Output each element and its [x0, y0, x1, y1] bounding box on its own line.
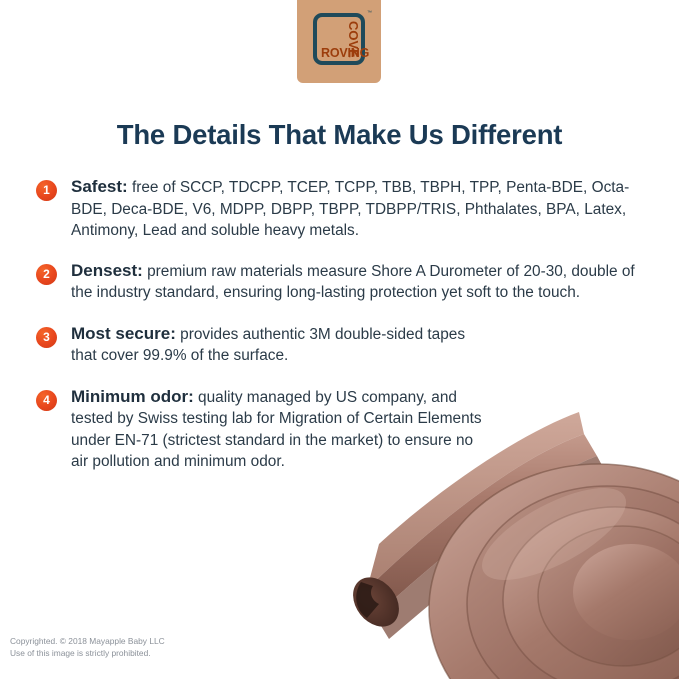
- list-item: 1 Safest: free of SCCP, TDCPP, TCEP, TCP…: [36, 176, 636, 242]
- trademark-symbol: ™: [367, 10, 372, 16]
- logo-tile: COVE ROVING ™: [297, 0, 381, 83]
- list-item-text: Safest: free of SCCP, TDCPP, TCEP, TCPP,…: [71, 176, 637, 242]
- list-item-text: Densest: premium raw materials measure S…: [71, 260, 651, 304]
- list-item: 3 Most secure: provides authentic 3M dou…: [36, 323, 636, 367]
- list-item-label: Minimum odor:: [71, 387, 194, 406]
- list-item-label: Most secure:: [71, 324, 176, 343]
- page-title: The Details That Make Us Different: [0, 119, 679, 151]
- list-number-badge: 4: [36, 390, 57, 411]
- list-item: 4 Minimum odor: quality managed by US co…: [36, 386, 636, 473]
- logo-text-roving: ROVING: [321, 47, 369, 60]
- feature-list: 1 Safest: free of SCCP, TDCPP, TCEP, TCP…: [36, 176, 636, 473]
- logo-outline-square: COVE ROVING: [313, 13, 365, 65]
- list-item-body: premium raw materials measure Shore A Du…: [71, 263, 635, 302]
- brand-logo: COVE ROVING ™: [297, 0, 381, 83]
- list-item-body: free of SCCP, TDCPP, TCEP, TCPP, TBB, TB…: [71, 179, 629, 239]
- list-item-text: Minimum odor: quality managed by US comp…: [71, 386, 491, 473]
- list-number-badge: 3: [36, 327, 57, 348]
- list-number-badge: 2: [36, 264, 57, 285]
- list-item: 2 Densest: premium raw materials measure…: [36, 260, 636, 304]
- list-item-text: Most secure: provides authentic 3M doubl…: [71, 323, 471, 367]
- list-number-badge: 1: [36, 180, 57, 201]
- copyright-line-1: Copyrighted. © 2018 Mayapple Baby LLC: [10, 636, 165, 648]
- copyright-line-2: Use of this image is strictly prohibited…: [10, 648, 165, 660]
- list-item-label: Densest:: [71, 261, 143, 280]
- copyright-footer: Copyrighted. © 2018 Mayapple Baby LLC Us…: [10, 636, 165, 659]
- list-item-label: Safest:: [71, 177, 128, 196]
